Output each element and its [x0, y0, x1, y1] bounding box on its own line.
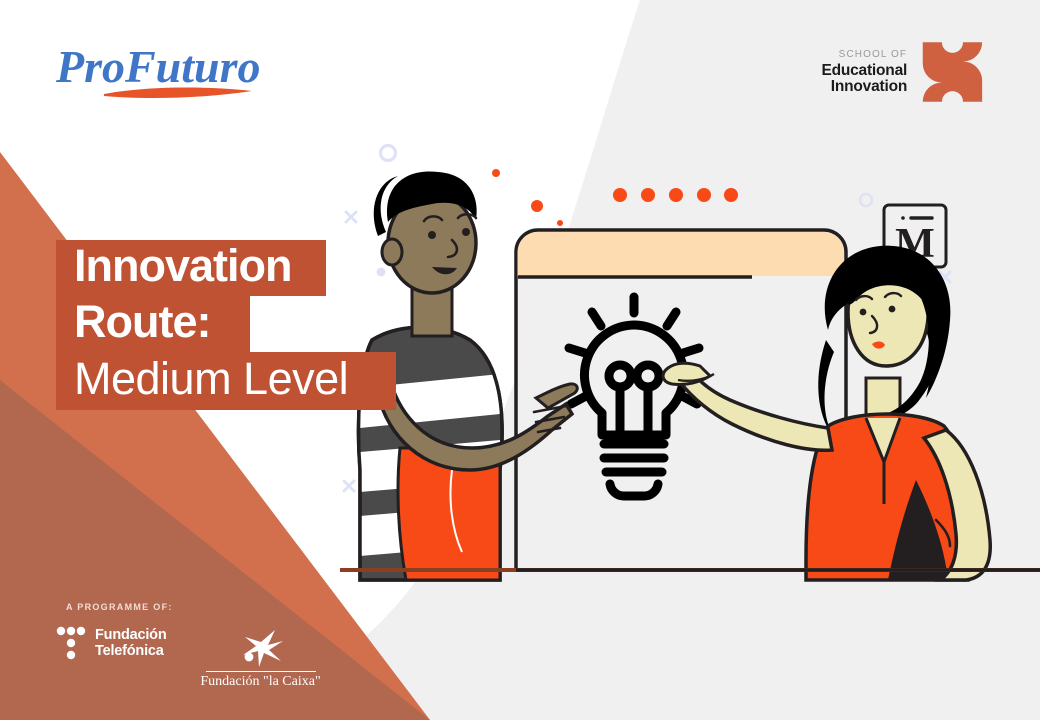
accent-x-icon-2: [344, 481, 354, 491]
school-of-educational-innovation-logo[interactable]: SCHOOL OF Educational Innovation: [748, 38, 988, 106]
school-name: Educational Innovation: [748, 63, 907, 94]
telefonica-dots-icon: [56, 626, 86, 660]
caixa-caption: Fundación "la Caixa": [200, 674, 320, 690]
accent-orange-dot-a: [492, 169, 500, 177]
fundacion-telefonica-logo[interactable]: Fundación Telefónica: [56, 626, 167, 660]
profuturo-logo[interactable]: ProFuturo: [56, 38, 286, 106]
title-line-1: Innovation: [56, 240, 326, 296]
accent-orange-dot-c: [557, 220, 563, 226]
caixa-rule: [206, 671, 316, 672]
caixa-star-icon: [231, 628, 291, 668]
telefonica-line-2: Telefónica: [95, 643, 167, 659]
x-mark-icon: [917, 39, 988, 105]
footer-partner-logos: Fundación Telefónica Fundación "la Caixa…: [56, 626, 319, 690]
programme-label: A PROGRAMME OF:: [66, 602, 173, 612]
accent-circle-icon: [381, 146, 396, 161]
slide-canvas: M: [0, 0, 1040, 720]
title-line-3: Medium Level: [56, 352, 396, 410]
telefonica-line-1: Fundación: [95, 627, 167, 643]
accent-x-icon-1: [346, 212, 356, 222]
profuturo-logo-mark: ProFuturo: [56, 38, 286, 106]
profuturo-wordmark: ProFuturo: [56, 41, 261, 92]
telefonica-wordmark: Fundación Telefónica: [95, 627, 167, 659]
accent-orange-dot-b: [531, 200, 543, 212]
school-eyebrow: SCHOOL OF: [748, 50, 907, 60]
title-line-2: Route:: [56, 296, 250, 352]
fundacion-la-caixa-logo[interactable]: Fundación "la Caixa": [203, 628, 319, 690]
school-text-block: SCHOOL OF Educational Innovation: [748, 50, 907, 94]
page-title: Innovation Route: Medium Level: [56, 240, 396, 410]
